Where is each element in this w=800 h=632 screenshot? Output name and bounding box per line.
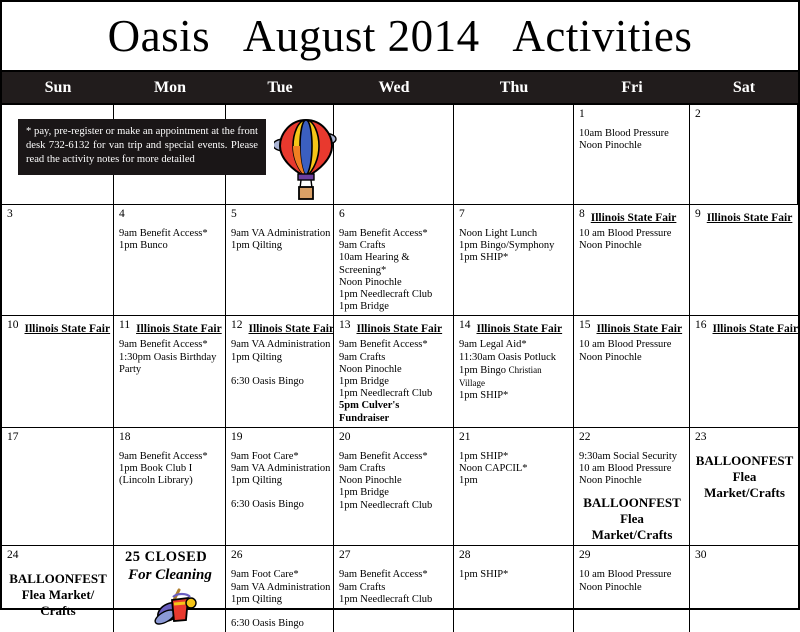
- day-number: 15: [579, 319, 591, 332]
- day-header: 9Illinois State Fair: [695, 208, 794, 226]
- event-item[interactable]: 10 am Blood Pressure: [579, 463, 685, 475]
- day-header: 20: [339, 431, 449, 449]
- event-tag-state-fair: Illinois State Fair: [357, 323, 443, 335]
- event-item[interactable]: 1pm Bridge: [339, 376, 449, 388]
- day-cell-20[interactable]: 209am Benefit Access*9am CraftsNoon Pino…: [334, 428, 454, 546]
- page-title: Oasis August 2014 Activities: [108, 14, 693, 59]
- weekday-sun: Sun: [2, 72, 114, 103]
- event-item[interactable]: 1pm Needlecraft Club: [339, 594, 449, 606]
- event-item[interactable]: 6:30 Oasis Bingo: [231, 499, 329, 511]
- day-number: 28: [459, 549, 471, 562]
- event-list: 9am Legal Aid*11:30am Oasis Potluck1pm B…: [459, 339, 569, 402]
- calendar-title-bar: Oasis August 2014 Activities: [2, 2, 798, 72]
- day-header: 22: [579, 431, 685, 449]
- calendar-week-row: 24BALLOONFESTFlea Market/Crafts25 CLOSED…: [2, 546, 798, 632]
- event-item[interactable]: Noon Pinochle: [579, 475, 685, 487]
- day-number: 20: [339, 431, 351, 444]
- event-tag-state-fair: Illinois State Fair: [707, 212, 793, 224]
- calendar-grid: 110am Blood PressureNoon Pinochle2* pay,…: [2, 103, 798, 632]
- weekday-wed: Wed: [334, 72, 454, 103]
- event-item[interactable]: 9am Foot Care*: [231, 569, 329, 581]
- day-header: 4: [119, 208, 221, 226]
- event-list: 10am Blood PressureNoon Pinochle: [579, 128, 685, 152]
- day-cell-26[interactable]: 269am Foot Care*9am VA Administration1pm…: [226, 546, 334, 632]
- day-cell-2[interactable]: 2: [690, 105, 798, 204]
- day-cell-6[interactable]: 69am Benefit Access*9am Crafts10am Heari…: [334, 205, 454, 315]
- event-item[interactable]: 1pm Bingo/Symphony: [459, 240, 569, 252]
- weekday-thu: Thu: [454, 72, 574, 103]
- event-item[interactable]: Noon Pinochle: [339, 364, 449, 376]
- day-header: 29: [579, 549, 685, 567]
- day-cell-8[interactable]: 8Illinois State Fair10 am Blood Pressure…: [574, 205, 690, 315]
- day-cell-23[interactable]: 23BALLOONFESTFlea Market/Crafts: [690, 428, 798, 546]
- calendar-page: Oasis August 2014 Activities Sun Mon Tue…: [0, 0, 800, 610]
- day-cell-empty[interactable]: [334, 105, 454, 204]
- event-item[interactable]: Noon Pinochle: [579, 582, 685, 594]
- event-item[interactable]: 1pm Qilting: [231, 352, 329, 364]
- event-list: 9am Benefit Access*1pm Bunco: [119, 228, 221, 252]
- event-item[interactable]: 1pm Qilting: [231, 594, 329, 606]
- day-cell-30[interactable]: 30: [690, 546, 798, 632]
- event-tag-state-fair: Illinois State Fair: [249, 323, 335, 335]
- event-item[interactable]: 1pm SHIP*: [459, 252, 569, 264]
- calendar-week-row: 10Illinois State Fair11Illinois State Fa…: [2, 316, 798, 427]
- day-number: 5: [231, 208, 237, 221]
- event-list: 9am Benefit Access*9am Crafts10am Hearin…: [339, 228, 449, 313]
- day-header: 26: [231, 549, 329, 567]
- event-item[interactable]: 9am Crafts: [339, 463, 449, 475]
- day-cell-12[interactable]: 12Illinois State Fair9am VA Administrati…: [226, 316, 334, 426]
- closed-sublabel: For Cleaning: [119, 567, 221, 584]
- event-item[interactable]: 9am Crafts: [339, 352, 449, 364]
- day-number: 11: [119, 319, 130, 332]
- event-item[interactable]: 1pm: [459, 475, 569, 487]
- event-item[interactable]: 11:30am Oasis Potluck: [459, 352, 569, 364]
- day-cell-3[interactable]: 3: [2, 205, 114, 315]
- event-item[interactable]: 9am Crafts: [339, 240, 449, 252]
- calendar-week-row: 349am Benefit Access*1pm Bunco59am VA Ad…: [2, 205, 798, 316]
- weekday-tue: Tue: [226, 72, 334, 103]
- event-item[interactable]: 9am Legal Aid*: [459, 339, 569, 351]
- event-item[interactable]: 1pm Bridge: [339, 301, 449, 313]
- day-header: 2: [695, 108, 793, 126]
- banner-line: BALLOONFEST: [695, 453, 794, 469]
- day-number: 22: [579, 431, 591, 444]
- weekday-fri: Fri: [574, 72, 690, 103]
- day-number: 19: [231, 431, 243, 444]
- day-number: 10: [7, 319, 19, 332]
- event-item[interactable]: 1:30pm Oasis Birthday Party: [119, 352, 221, 376]
- day-number: 21: [459, 431, 471, 444]
- event-tag-state-fair: Illinois State Fair: [477, 323, 563, 335]
- day-cell-13[interactable]: 13Illinois State Fair9am Benefit Access*…: [334, 316, 454, 426]
- event-item[interactable]: 10 am Blood Pressure: [579, 228, 685, 240]
- banner-line: BALLOONFEST: [579, 495, 685, 511]
- event-item[interactable]: 6:30 Oasis Bingo: [231, 618, 329, 630]
- day-header: 5: [231, 208, 329, 226]
- day-cell-21[interactable]: 211pm SHIP*Noon CAPCIL*1pm: [454, 428, 574, 546]
- event-item[interactable]: 10 am Blood Pressure: [579, 339, 685, 351]
- day-header: 23: [695, 431, 794, 449]
- day-header: 1: [579, 108, 685, 126]
- day-cell-1[interactable]: 110am Blood PressureNoon Pinochle: [574, 105, 690, 204]
- day-number: 1: [579, 108, 585, 121]
- day-number: 14: [459, 319, 471, 332]
- calendar-week-row: 110am Blood PressureNoon Pinochle2* pay,…: [2, 105, 798, 205]
- banner-line: Flea Market/: [7, 587, 109, 603]
- event-item[interactable]: Noon Pinochle: [579, 140, 685, 152]
- day-cell-11[interactable]: 11Illinois State Fair9am Benefit Access*…: [114, 316, 226, 426]
- day-cell-17[interactable]: 17: [2, 428, 114, 546]
- day-number: 7: [459, 208, 465, 221]
- event-item[interactable]: Noon CAPCIL*: [459, 463, 569, 475]
- day-cell-15[interactable]: 15Illinois State Fair10 am Blood Pressur…: [574, 316, 690, 426]
- day-number: 18: [119, 431, 131, 444]
- event-list: 9am Benefit Access*9am Crafts1pm Needlec…: [339, 569, 449, 606]
- event-item[interactable]: 9:30am Social Security: [579, 451, 685, 463]
- event-item[interactable]: 6:30 Oasis Bingo: [231, 376, 329, 388]
- event-item[interactable]: 1pm Bingo Christian Village: [459, 364, 569, 390]
- event-list: 10 am Blood PressureNoon Pinochle: [579, 228, 685, 252]
- balloonfest-banner: BALLOONFESTFlea Market/Crafts: [695, 453, 794, 501]
- event-list: 9am Benefit Access*9am CraftsNoon Pinoch…: [339, 339, 449, 424]
- weekday-header-row: Sun Mon Tue Wed Thu Fri Sat: [2, 72, 798, 103]
- day-number: 16: [695, 319, 707, 332]
- day-cell-18[interactable]: 189am Benefit Access*1pm Book Club I(Lin…: [114, 428, 226, 546]
- closed-label: 25 CLOSED: [119, 549, 221, 566]
- cleaning-bucket-icon: [141, 584, 199, 628]
- event-item[interactable]: 9am Foot Care*: [231, 451, 329, 463]
- event-item[interactable]: 10am Hearing & Screening*: [339, 252, 449, 276]
- event-spacer: [231, 606, 329, 618]
- day-number: 30: [695, 549, 707, 562]
- event-item[interactable]: 9am Benefit Access*: [119, 228, 221, 240]
- banner-line: Crafts: [7, 603, 109, 619]
- day-header: 28: [459, 549, 569, 567]
- event-tag-state-fair: Illinois State Fair: [713, 323, 799, 335]
- balloonfest-banner: BALLOONFESTFlea Market/Crafts: [579, 495, 685, 543]
- event-item[interactable]: 9am Benefit Access*: [339, 339, 449, 351]
- day-cell-27[interactable]: 279am Benefit Access*9am Crafts1pm Needl…: [334, 546, 454, 632]
- day-number: 6: [339, 208, 345, 221]
- day-header: 6: [339, 208, 449, 226]
- event-item[interactable]: 9am VA Administration: [231, 582, 329, 594]
- event-item[interactable]: 1pm Qilting: [231, 475, 329, 487]
- day-cell-28[interactable]: 281pm SHIP*: [454, 546, 574, 632]
- event-item[interactable]: 9am Benefit Access*: [339, 228, 449, 240]
- event-list: 9:30am Social Security10 am Blood Pressu…: [579, 451, 685, 488]
- event-list: 9am Benefit Access*1pm Book Club I(Linco…: [119, 451, 221, 488]
- event-item[interactable]: Noon Pinochle: [579, 352, 685, 364]
- event-item[interactable]: 9am VA Administration: [231, 339, 329, 351]
- balloonfest-banner: BALLOONFESTFlea Market/Crafts: [7, 571, 109, 619]
- day-header: [459, 108, 569, 126]
- day-cell-24[interactable]: 24BALLOONFESTFlea Market/Crafts: [2, 546, 114, 632]
- day-cell-22[interactable]: 229:30am Social Security10 am Blood Pres…: [574, 428, 690, 546]
- event-item[interactable]: 9am VA Administration: [231, 228, 329, 240]
- day-number: 17: [7, 431, 19, 444]
- day-number: 3: [7, 208, 13, 221]
- event-list: 10 am Blood PressureNoon Pinochle: [579, 569, 685, 593]
- day-header: 19: [231, 431, 329, 449]
- event-list: Noon Light Lunch1pm Bingo/Symphony1pm SH…: [459, 228, 569, 265]
- day-cell-9[interactable]: 9Illinois State Fair: [690, 205, 798, 315]
- event-list: 9am VA Administration1pm Qilting6:30 Oas…: [231, 339, 329, 388]
- weekday-mon: Mon: [114, 72, 226, 103]
- day-cell-10[interactable]: 10Illinois State Fair: [2, 316, 114, 426]
- activity-note-box: * pay, pre-register or make an appointme…: [18, 119, 266, 175]
- event-tag-state-fair: Illinois State Fair: [597, 323, 683, 335]
- day-header: 15Illinois State Fair: [579, 319, 685, 337]
- event-item[interactable]: 10am Blood Pressure: [579, 128, 685, 140]
- event-tag-state-fair: Illinois State Fair: [591, 212, 677, 224]
- event-item[interactable]: 9am Benefit Access*: [339, 451, 449, 463]
- day-number: 26: [231, 549, 243, 562]
- day-number: 12: [231, 319, 243, 332]
- event-item[interactable]: 1pm Bunco: [119, 240, 221, 252]
- event-list: 1pm SHIP*: [459, 569, 569, 581]
- weekday-sat: Sat: [690, 72, 798, 103]
- event-item[interactable]: 5pm Culver's Fundraiser: [339, 400, 449, 424]
- day-header: 30: [695, 549, 794, 567]
- event-item[interactable]: 1pm Needlecraft Club: [339, 388, 449, 400]
- event-item[interactable]: Noon Pinochle: [339, 277, 449, 289]
- day-number: 29: [579, 549, 591, 562]
- day-cell-16[interactable]: 16Illinois State Fair: [690, 316, 798, 426]
- day-cell-7[interactable]: 7Noon Light Lunch1pm Bingo/Symphony1pm S…: [454, 205, 574, 315]
- event-item[interactable]: (Lincoln Library): [119, 475, 221, 487]
- day-header: 12Illinois State Fair: [231, 319, 329, 337]
- day-number: 13: [339, 319, 351, 332]
- day-header: 24: [7, 549, 109, 567]
- day-header: 21: [459, 431, 569, 449]
- event-list: 9am VA Administration1pm Qilting: [231, 228, 329, 252]
- day-header: 17: [7, 431, 109, 449]
- event-item[interactable]: 1pm SHIP*: [459, 390, 569, 402]
- banner-line: Flea Market/Crafts: [579, 511, 685, 543]
- event-item[interactable]: 1pm Qilting: [231, 240, 329, 252]
- hot-air-balloon-icon: [274, 115, 338, 203]
- event-item[interactable]: 1pm SHIP*: [459, 569, 569, 581]
- day-number: 27: [339, 549, 351, 562]
- event-tag-state-fair: Illinois State Fair: [136, 323, 222, 335]
- day-cell-25[interactable]: 25 CLOSEDFor Cleaning: [114, 546, 226, 632]
- event-item[interactable]: 9am Benefit Access*: [119, 451, 221, 463]
- day-number: 4: [119, 208, 125, 221]
- day-header: 3: [7, 208, 109, 226]
- event-list: 10 am Blood PressureNoon Pinochle: [579, 339, 685, 363]
- event-item[interactable]: 10 am Blood Pressure: [579, 569, 685, 581]
- day-header: 27: [339, 549, 449, 567]
- day-header: 7: [459, 208, 569, 226]
- event-list: 9am Benefit Access*9am CraftsNoon Pinoch…: [339, 451, 449, 512]
- day-header: 10Illinois State Fair: [7, 319, 109, 337]
- banner-line: BALLOONFEST: [7, 571, 109, 587]
- day-cell-empty[interactable]: [454, 105, 574, 204]
- day-header: [339, 108, 449, 126]
- day-header: 8Illinois State Fair: [579, 208, 685, 226]
- event-list: 9am Foot Care*9am VA Administration1pm Q…: [231, 451, 329, 512]
- event-spacer: [231, 487, 329, 499]
- day-header: 18: [119, 431, 221, 449]
- event-item[interactable]: Noon Pinochle: [579, 240, 685, 252]
- day-header: 13Illinois State Fair: [339, 319, 449, 337]
- event-list: 1pm SHIP*Noon CAPCIL*1pm: [459, 451, 569, 488]
- day-number: 24: [7, 549, 19, 562]
- event-list: 9am Benefit Access*1:30pm Oasis Birthday…: [119, 339, 221, 376]
- day-cell-4[interactable]: 49am Benefit Access*1pm Bunco: [114, 205, 226, 315]
- event-item[interactable]: 9am Benefit Access*: [339, 569, 449, 581]
- day-number: 23: [695, 431, 707, 444]
- event-item[interactable]: 9am Crafts: [339, 582, 449, 594]
- event-item[interactable]: 1pm Needlecraft Club: [339, 289, 449, 301]
- event-item[interactable]: 1pm Bridge: [339, 487, 449, 499]
- event-tag-state-fair: Illinois State Fair: [25, 323, 111, 335]
- day-cell-14[interactable]: 14Illinois State Fair9am Legal Aid*11:30…: [454, 316, 574, 426]
- calendar-week-row: 17189am Benefit Access*1pm Book Club I(L…: [2, 428, 798, 547]
- event-item[interactable]: 9am VA Administration: [231, 463, 329, 475]
- day-header: 14Illinois State Fair: [459, 319, 569, 337]
- day-number: 8: [579, 208, 585, 221]
- event-spacer: [231, 364, 329, 376]
- day-header: 16Illinois State Fair: [695, 319, 794, 337]
- event-item[interactable]: Noon Light Lunch: [459, 228, 569, 240]
- day-cell-19[interactable]: 199am Foot Care*9am VA Administration1pm…: [226, 428, 334, 546]
- day-cell-29[interactable]: 2910 am Blood PressureNoon Pinochle: [574, 546, 690, 632]
- event-item[interactable]: 1pm Needlecraft Club: [339, 500, 449, 512]
- event-item[interactable]: 1pm SHIP*: [459, 451, 569, 463]
- day-cell-5[interactable]: 59am VA Administration1pm Qilting: [226, 205, 334, 315]
- event-list: 9am Foot Care*9am VA Administration1pm Q…: [231, 569, 329, 630]
- day-number: 9: [695, 208, 701, 221]
- event-item[interactable]: 9am Benefit Access*: [119, 339, 221, 351]
- event-item[interactable]: Noon Pinochle: [339, 475, 449, 487]
- day-number: 2: [695, 108, 701, 121]
- banner-line: Flea Market/Crafts: [695, 469, 794, 501]
- day-header: 11Illinois State Fair: [119, 319, 221, 337]
- event-item[interactable]: 1pm Book Club I: [119, 463, 221, 475]
